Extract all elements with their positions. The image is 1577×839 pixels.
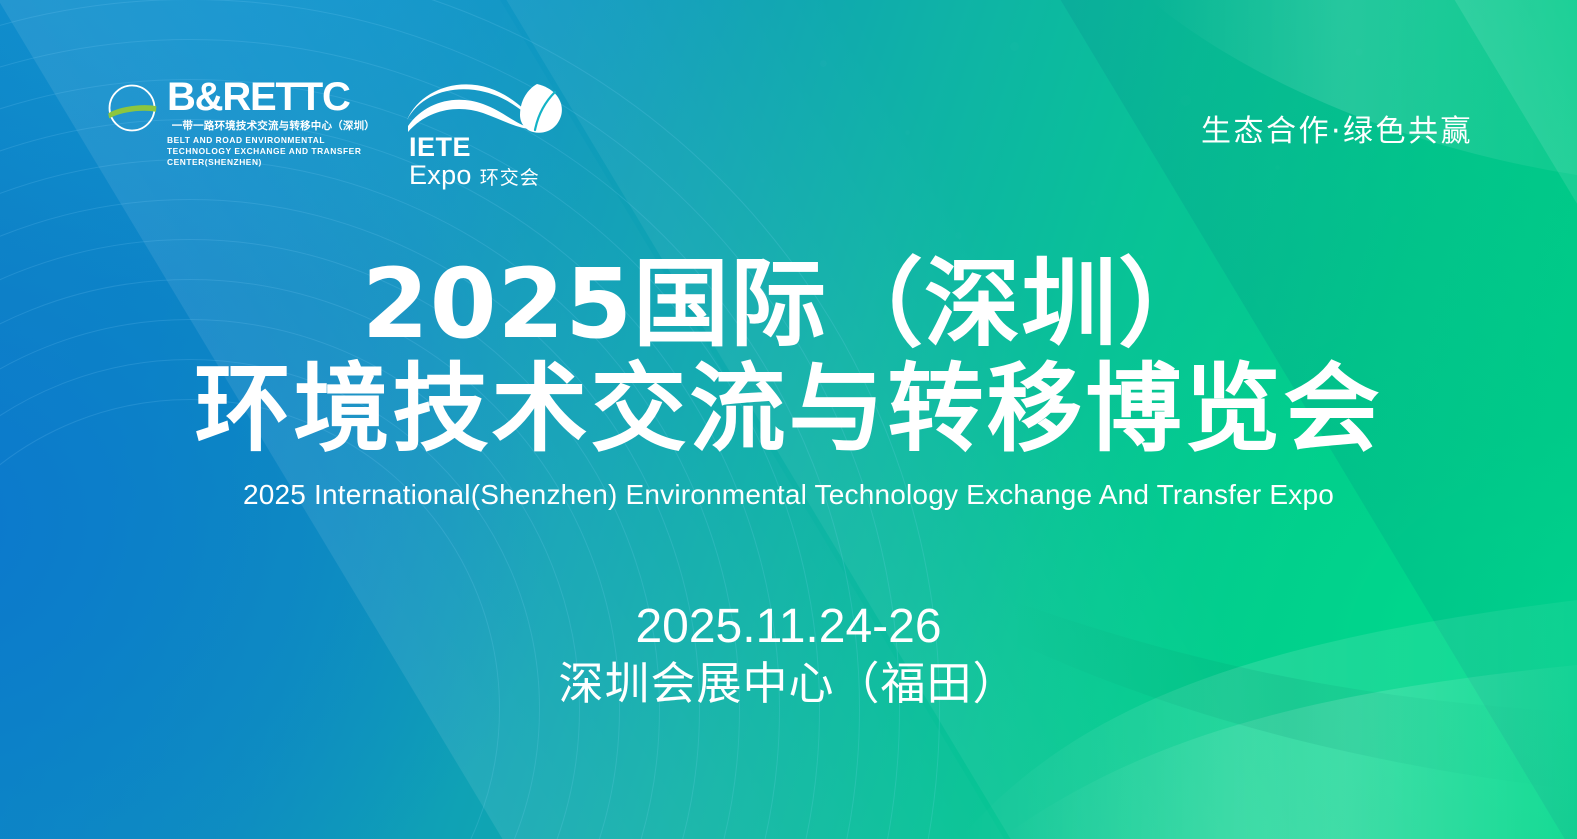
event-meta-block: 2025.11.24-26 深圳会展中心（福田）	[0, 600, 1577, 709]
brettc-text-block: B&RETTC 一带一路环境技术交流与转移中心（深圳） BELT AND ROA…	[167, 78, 375, 168]
logo-group: B&RETTC 一带一路环境技术交流与转移中心（深圳） BELT AND ROA…	[104, 78, 567, 184]
main-title-block: 2025国际（深圳） 环境技术交流与转移博览会 2025 Internation…	[0, 255, 1577, 511]
iete-chinese-short-name: 环交会	[480, 163, 540, 190]
subtitle-english: 2025 International(Shenzhen) Environment…	[0, 479, 1577, 511]
event-banner: B&RETTC 一带一路环境技术交流与转移中心（深圳） BELT AND ROA…	[0, 0, 1577, 839]
header-slogan: 生态合作·绿色共赢	[1201, 106, 1473, 150]
brettc-wordmark: B&RETTC	[167, 78, 375, 116]
globe-ring-icon	[104, 82, 161, 134]
iete-lockup-text: IETE Expo 环交会	[409, 134, 540, 190]
title-line-1: 2025国际（深圳）	[0, 255, 1577, 355]
iete-expo-word: Expo	[409, 162, 472, 189]
event-venue: 深圳会展中心（福田）	[0, 659, 1577, 709]
iete-subline: Expo 环交会	[409, 162, 540, 190]
brettc-english-name: BELT AND ROAD ENVIRONMENTAL TECHNOLOGY E…	[167, 135, 375, 168]
brettc-logo[interactable]: B&RETTC 一带一路环境技术交流与转移中心（深圳） BELT AND ROA…	[104, 78, 375, 168]
event-date: 2025.11.24-26	[0, 600, 1577, 654]
brettc-chinese-name: 一带一路环境技术交流与转移中心（深圳）	[167, 118, 375, 133]
banner-header: B&RETTC 一带一路环境技术交流与转移中心（深圳） BELT AND ROA…	[0, 78, 1577, 188]
iete-expo-logo[interactable]: IETE Expo 环交会	[405, 82, 567, 184]
title-line-2: 环境技术交流与转移博览会	[0, 359, 1577, 461]
iete-acronym: IETE	[409, 134, 540, 161]
